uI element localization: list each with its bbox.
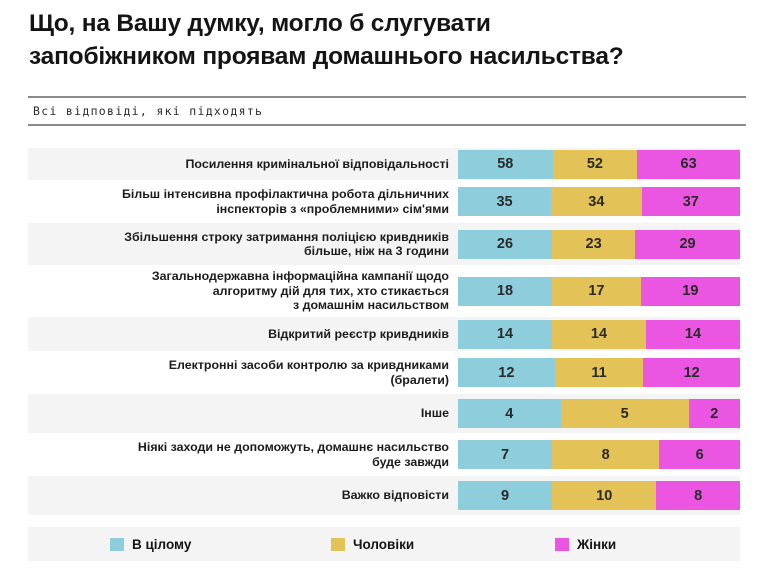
- bar-segment-в-цілому: 58: [458, 150, 553, 179]
- bar-segment-чоловіки: 34: [551, 187, 641, 216]
- bar-segment-чоловіки: 10: [552, 481, 656, 510]
- bar-segment-чоловіки: 11: [555, 358, 644, 387]
- bar-segment-чоловіки: 8: [552, 440, 659, 469]
- bar-segment-жінки: 2: [689, 399, 740, 428]
- row-label: Ніякі заходи не допоможуть, домашнє наси…: [28, 440, 458, 469]
- bar-group: 141414: [458, 320, 740, 349]
- row-label: Важко відповісти: [28, 488, 458, 503]
- table-row: Електронні засоби контролю за кривдникам…: [28, 351, 740, 394]
- bar-group: 121112: [458, 358, 740, 387]
- subtitle: Всі відповіді, які підходять: [33, 104, 263, 118]
- bar-segment-чоловіки: 23: [552, 230, 635, 259]
- bar-segment-чоловіки: 17: [552, 277, 641, 306]
- bar-group: 9108: [458, 481, 740, 510]
- table-row: Збільшення строку затримання поліцією кр…: [28, 223, 740, 265]
- bar-segment-жінки: 6: [659, 440, 740, 469]
- bar-segment-жінки: 37: [642, 187, 740, 216]
- row-label: Відкритий реєстр кривдників: [28, 327, 458, 342]
- row-label: Загальнодержавна інформаційна кампанії щ…: [28, 269, 458, 313]
- bar-segment-чоловіки: 14: [552, 320, 646, 349]
- table-row: Більш інтенсивна профілактична робота ді…: [28, 180, 740, 223]
- legend-label: Жінки: [577, 537, 616, 552]
- bar-segment-жінки: 14: [646, 320, 740, 349]
- chart-legend: В ціломуЧоловікиЖінки: [28, 527, 740, 561]
- bar-segment-в-цілому: 18: [458, 277, 552, 306]
- legend-swatch-icon: [110, 538, 124, 551]
- bar-segment-жінки: 63: [637, 150, 740, 179]
- bar-group: 353437: [458, 187, 740, 216]
- bar-segment-в-цілому: 14: [458, 320, 552, 349]
- bar-segment-в-цілому: 4: [458, 399, 561, 428]
- row-label: Більш інтенсивна профілактична робота ді…: [28, 187, 458, 216]
- bar-segment-жінки: 19: [641, 277, 740, 306]
- bar-segment-жінки: 12: [643, 358, 740, 387]
- legend-label: В цілому: [132, 537, 191, 552]
- bar-segment-в-цілому: 35: [458, 187, 551, 216]
- bar-group: 181719: [458, 277, 740, 306]
- table-row: Загальнодержавна інформаційна кампанії щ…: [28, 265, 740, 317]
- table-row: Важко відповісти9108: [28, 476, 740, 515]
- legend-label: Чоловіки: [353, 537, 414, 552]
- bar-group: 452: [458, 399, 740, 428]
- bar-group: 786: [458, 440, 740, 469]
- table-row: Відкритий реєстр кривдників141414: [28, 317, 740, 351]
- bar-segment-жінки: 29: [635, 230, 740, 259]
- row-label: Збільшення строку затримання поліцією кр…: [28, 230, 458, 259]
- legend-item-в-цілому[interactable]: В цілому: [110, 535, 191, 553]
- bar-group: 585263: [458, 150, 740, 179]
- bar-segment-в-цілому: 7: [458, 440, 552, 469]
- bar-segment-в-цілому: 9: [458, 481, 552, 510]
- legend-item-жінки[interactable]: Жінки: [555, 535, 616, 553]
- row-label: Електронні засоби контролю за кривдникам…: [28, 358, 458, 387]
- bar-segment-чоловіки: 5: [561, 399, 689, 428]
- legend-item-чоловіки[interactable]: Чоловіки: [331, 535, 414, 553]
- bar-segment-в-цілому: 12: [458, 358, 555, 387]
- page-title: Що, на Вашу думку, могло б слугувати зап…: [29, 8, 745, 73]
- row-label: Інше: [28, 406, 458, 421]
- table-row: Посилення кримінальної відповідальності5…: [28, 148, 740, 180]
- bar-chart: Посилення кримінальної відповідальності5…: [28, 148, 740, 515]
- bar-segment-жінки: 8: [656, 481, 740, 510]
- row-label: Посилення кримінальної відповідальності: [28, 157, 458, 172]
- bar-group: 262329: [458, 230, 740, 259]
- table-row: Інше452: [28, 394, 740, 433]
- legend-swatch-icon: [331, 538, 345, 551]
- bar-segment-чоловіки: 52: [553, 150, 638, 179]
- legend-swatch-icon: [555, 538, 569, 551]
- table-row: Ніякі заходи не допоможуть, домашнє наси…: [28, 433, 740, 476]
- bar-segment-в-цілому: 26: [458, 230, 552, 259]
